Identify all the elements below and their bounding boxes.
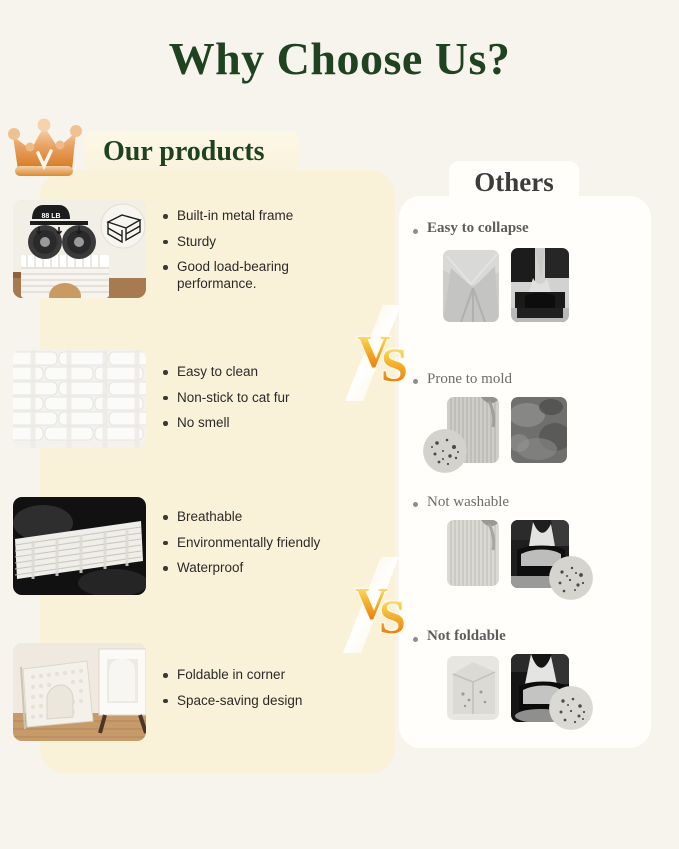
- bullet-dot: [413, 229, 418, 234]
- product-bullets-1: Built-in metal frame Sturdy Good load-be…: [163, 208, 348, 301]
- bullet-item: Environmentally friendly: [163, 535, 348, 552]
- product-bullets-2: Easy to clean Non-stick to cat fur No sm…: [163, 364, 348, 441]
- vs-badge-bottom: V S: [341, 557, 427, 653]
- page-title: Why Choose Us?: [0, 32, 679, 85]
- bullet-item: Space-saving design: [163, 693, 348, 710]
- debris-circle: [549, 686, 593, 730]
- bullet-item: No smell: [163, 415, 348, 432]
- rigid-box-light: [447, 656, 499, 720]
- bullet-item: Breathable: [163, 509, 348, 526]
- svg-text:S: S: [379, 591, 406, 644]
- others-item-label: Not foldable: [427, 628, 506, 645]
- bullet-item: Built-in metal frame: [163, 208, 348, 225]
- collapsed-fabric-light: [443, 250, 499, 322]
- others-label: Others: [449, 163, 579, 201]
- svg-text:88 LB: 88 LB: [41, 213, 60, 220]
- product-photo-weave-texture: [13, 350, 146, 448]
- bullet-item: Non-stick to cat fur: [163, 390, 348, 407]
- bullet-item: Sturdy: [163, 234, 348, 251]
- mold-stain-dark: [511, 397, 567, 463]
- bullet-dot: [413, 502, 418, 507]
- product-bullets-4: Foldable in corner Space-saving design: [163, 667, 348, 718]
- bullet-item: Foldable in corner: [163, 667, 348, 684]
- product-photo-foldable: [13, 643, 146, 741]
- bullet-item: Good load-bearing performance.: [163, 259, 348, 292]
- unwashable-fabric-striped: [447, 520, 499, 586]
- crown-icon: [6, 118, 92, 180]
- our-products-label: Our products: [103, 134, 303, 170]
- bullet-item: Waterproof: [163, 560, 348, 577]
- vs-badge-top: V S: [343, 305, 429, 401]
- dirt-spots-circle: [549, 556, 593, 600]
- others-item-label: Not washable: [427, 494, 509, 511]
- svg-text:S: S: [381, 339, 408, 392]
- bullet-item: Easy to clean: [163, 364, 348, 381]
- others-item-label: Easy to collapse: [427, 220, 529, 237]
- product-bullets-3: Breathable Environmentally friendly Wate…: [163, 509, 348, 586]
- collapsed-tent-dark: [511, 248, 569, 322]
- others-item-label: Prone to mold: [427, 371, 512, 388]
- mold-spots-circle: [423, 429, 467, 473]
- product-photo-breathable: [13, 497, 146, 595]
- product-photo-metal-frame: 88 LB: [13, 200, 146, 298]
